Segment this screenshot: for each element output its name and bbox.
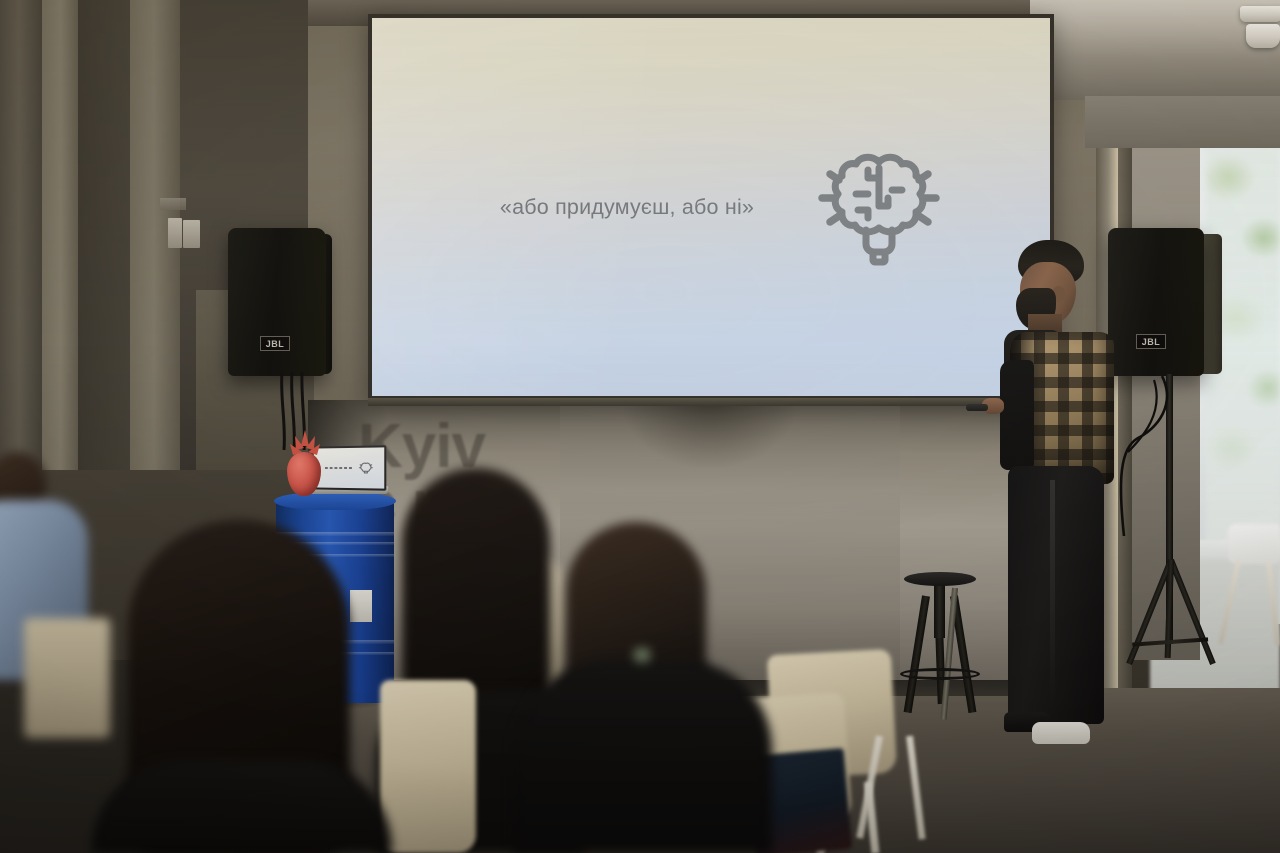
presenter-trouser-fold <box>1050 480 1055 708</box>
presenter-shoe-front <box>1032 722 1090 744</box>
audience-chair-left <box>24 618 110 738</box>
presentation-clicker[interactable] <box>966 404 988 411</box>
audience-member-3-body <box>512 660 772 853</box>
presenter-trousers <box>1008 466 1104 724</box>
presenter-arm <box>1000 360 1034 470</box>
audience-member-1-shoulders <box>92 760 392 853</box>
presentation-room-photo: Kyiv c my f «або придумуєш, або ні» <box>0 0 1280 853</box>
background-white-chair[interactable] <box>1228 524 1280 564</box>
audience-member-3-badge <box>634 648 650 662</box>
foreground-chair-3[interactable] <box>380 680 476 853</box>
